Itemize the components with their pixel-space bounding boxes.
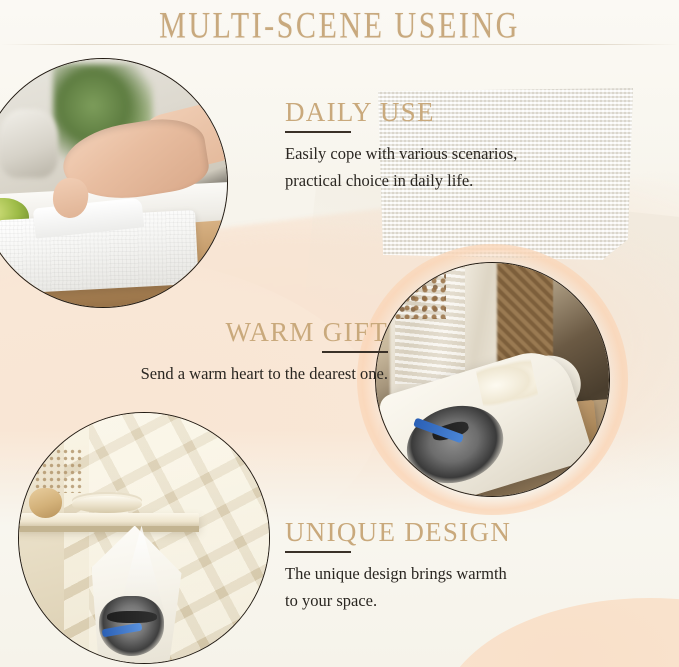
section-daily-use-underline xyxy=(285,131,351,133)
photo3-raccoon-eye-mask xyxy=(107,611,157,624)
photo-daily-use xyxy=(0,58,228,308)
section-warm-gift-heading: WARM GIFT xyxy=(48,317,388,347)
section-daily-use-line-2: practical choice in daily life. xyxy=(285,167,517,194)
section-daily-use-heading: DAILY USE xyxy=(285,97,517,127)
photo3-dried-stems xyxy=(34,448,84,493)
section-daily-use: DAILY USE Easily cope with various scena… xyxy=(285,97,517,194)
section-warm-gift-underline xyxy=(322,351,388,353)
photo2-dried-flowers xyxy=(385,263,446,319)
section-unique-design-line-1: The unique design brings warmth xyxy=(285,560,511,587)
photo-warm-gift xyxy=(375,262,610,497)
section-warm-gift: WARM GIFT Send a warm heart to the deare… xyxy=(48,317,388,387)
section-daily-use-line-1: Easily cope with various scenarios, xyxy=(285,140,517,167)
photo-daily-use-content xyxy=(0,59,227,307)
photo-unique-design xyxy=(18,412,270,664)
photo1-bottle xyxy=(0,109,58,178)
section-unique-design-heading: UNIQUE DESIGN xyxy=(285,517,511,547)
section-warm-gift-line-1: Send a warm heart to the dearest one. xyxy=(48,360,388,387)
page-title: MULTI-SCENE USEING xyxy=(10,2,669,49)
section-unique-design-line-2: to your space. xyxy=(285,587,511,614)
photo2-wicker-basket xyxy=(493,263,554,361)
title-divider xyxy=(0,44,679,45)
photo-warm-gift-content xyxy=(376,263,609,496)
section-unique-design: UNIQUE DESIGN The unique design brings w… xyxy=(285,517,511,614)
photo3-shelf-edge xyxy=(19,526,199,532)
section-unique-design-underline xyxy=(285,551,351,553)
photo3-vase xyxy=(29,488,62,518)
photo-unique-design-content xyxy=(19,413,269,663)
photo3-stacked-plates xyxy=(72,496,142,514)
infographic-canvas: MULTI-SCENE USEING xyxy=(0,0,679,667)
